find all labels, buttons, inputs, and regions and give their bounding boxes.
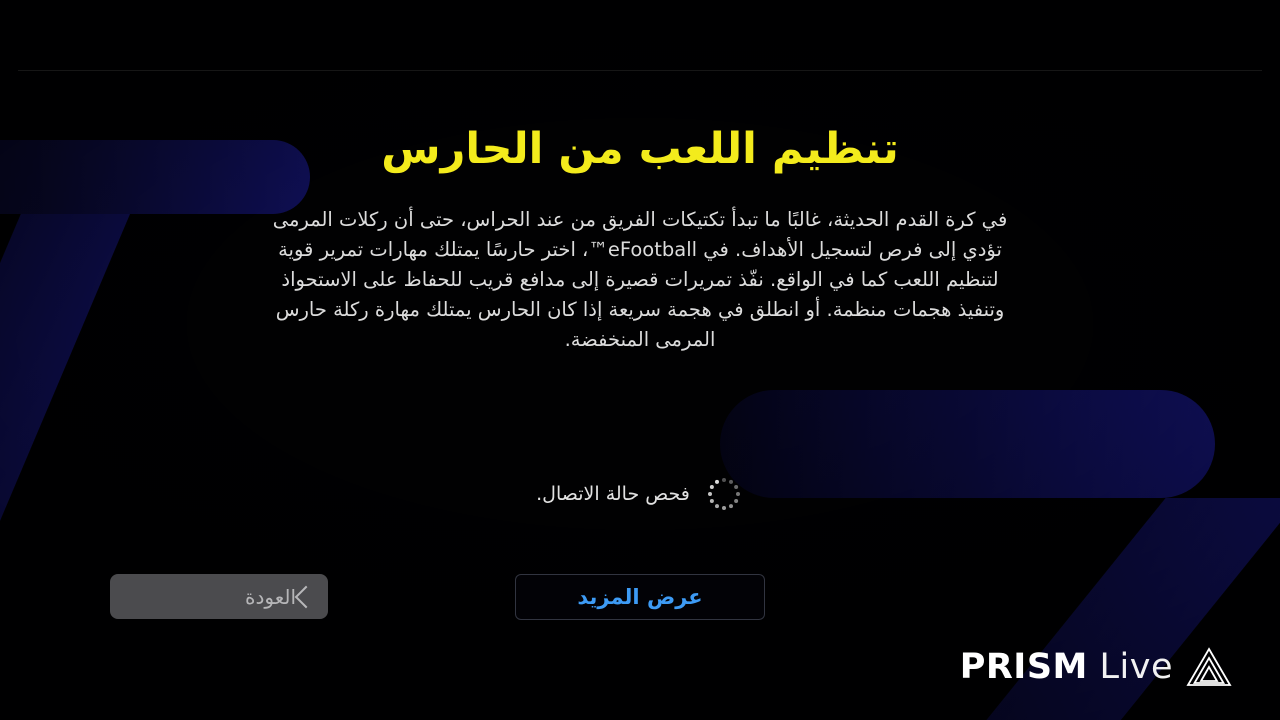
brand-secondary: Live — [1100, 647, 1173, 687]
brand-primary: PRISM — [960, 647, 1088, 687]
app-screen: تنظيم اللعب من الحارس في كرة القدم الحدي… — [0, 0, 1280, 720]
page-title: تنظيم اللعب من الحارس — [381, 126, 898, 173]
main-content: تنظيم اللعب من الحارس في كرة القدم الحدي… — [0, 0, 1280, 720]
page-description: في كرة القدم الحديثة، غالبًا ما تبدأ تكت… — [264, 205, 1016, 355]
brand-logo: PRISM Live — [960, 646, 1232, 688]
nested-triangle-icon — [1186, 646, 1232, 688]
brand-text: PRISM Live — [960, 650, 1173, 685]
